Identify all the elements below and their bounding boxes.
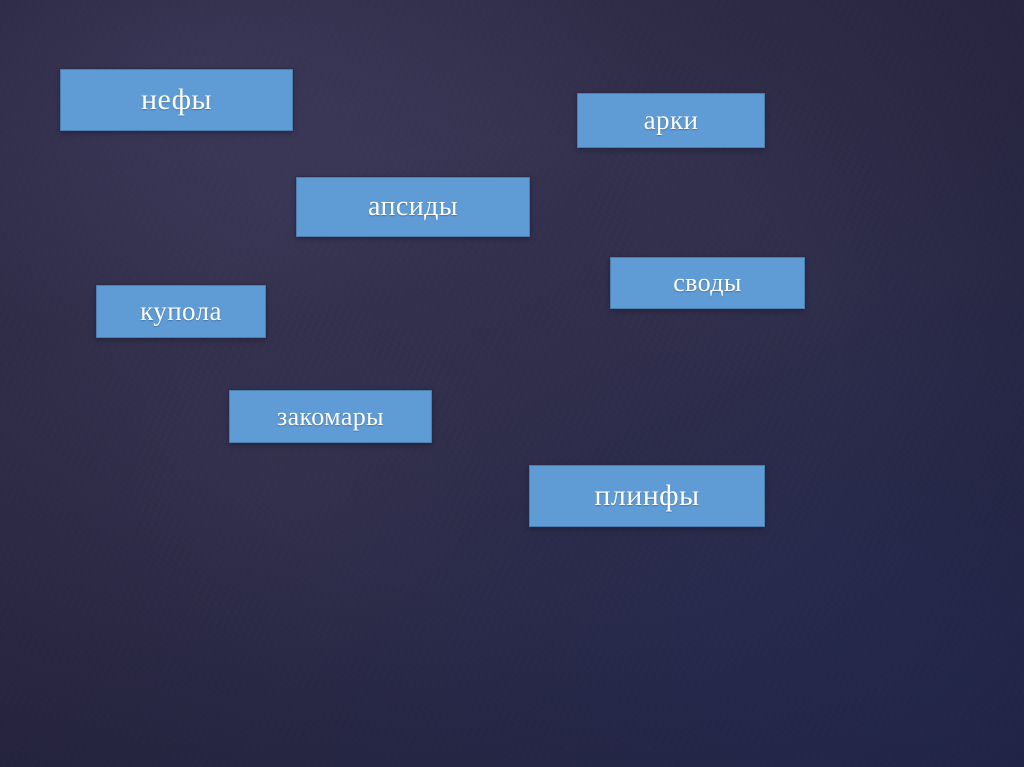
term-box-kupola[interactable]: купола	[96, 285, 266, 338]
term-label: плинфы	[594, 479, 699, 513]
term-box-plinfy[interactable]: плинфы	[529, 465, 765, 527]
term-label: нефы	[141, 83, 212, 117]
term-label: своды	[673, 268, 742, 298]
term-box-apsidy[interactable]: апсиды	[296, 177, 530, 237]
term-box-nefy[interactable]: нефы	[60, 69, 293, 131]
term-box-arki[interactable]: арки	[577, 93, 765, 148]
term-label: купола	[140, 296, 222, 327]
term-box-svody[interactable]: своды	[610, 257, 805, 309]
slide-canvas: нефыаркиапсидысводыкуполазакомарыплинфы	[0, 0, 1024, 767]
term-label: арки	[644, 105, 699, 136]
term-box-zakomary[interactable]: закомары	[229, 390, 432, 443]
term-label: закомары	[277, 402, 384, 432]
term-label: апсиды	[368, 191, 458, 223]
